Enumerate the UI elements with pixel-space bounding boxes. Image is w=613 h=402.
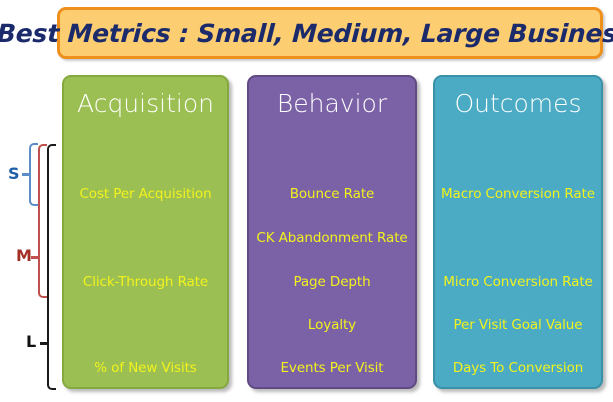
metric-item: Events Per Visit	[249, 360, 415, 376]
column-header-outcomes: Outcomes	[435, 91, 601, 116]
column-acquisition: Acquisition Cost Per Acquisition Click-T…	[62, 75, 229, 389]
bracket-label-small: S	[8, 166, 20, 182]
metric-item: CK Abandonment Rate	[249, 230, 415, 246]
title-banner: Best Metrics : Small, Medium, Large Busi…	[57, 7, 603, 59]
metric-list-acquisition: Cost Per Acquisition Click-Through Rate …	[64, 126, 227, 382]
metric-item: Loyalty	[249, 317, 415, 333]
metric-item: Macro Conversion Rate	[435, 186, 601, 202]
bracket-tick-large	[40, 342, 47, 345]
metric-list-outcomes: Macro Conversion Rate Micro Conversion R…	[435, 126, 601, 382]
infographic-canvas: Best Metrics : Small, Medium, Large Busi…	[0, 0, 613, 402]
page-title: Best Metrics : Small, Medium, Large Busi…	[0, 19, 613, 48]
bracket-label-large: L	[26, 334, 36, 350]
column-outcomes: Outcomes Macro Conversion Rate Micro Con…	[433, 75, 603, 389]
bracket-small	[29, 143, 38, 206]
bracket-label-medium: M	[16, 248, 32, 264]
metric-item: Cost Per Acquisition	[64, 186, 227, 202]
column-header-behavior: Behavior	[249, 91, 415, 116]
metric-item: % of New Visits	[64, 360, 227, 376]
metric-item: Click-Through Rate	[64, 274, 227, 290]
bracket-medium	[38, 144, 47, 298]
metric-item: Per Visit Goal Value	[435, 317, 601, 333]
metric-list-behavior: Bounce Rate CK Abandonment Rate Page Dep…	[249, 126, 415, 382]
column-behavior: Behavior Bounce Rate CK Abandonment Rate…	[247, 75, 417, 389]
column-header-acquisition: Acquisition	[64, 91, 227, 116]
metric-item: Bounce Rate	[249, 186, 415, 202]
metric-item: Page Depth	[249, 274, 415, 290]
metric-item: Micro Conversion Rate	[435, 274, 601, 290]
bracket-large	[47, 144, 56, 390]
bracket-tick-medium	[31, 256, 38, 259]
metric-item: Days To Conversion	[435, 360, 601, 376]
bracket-tick-small	[22, 173, 29, 176]
